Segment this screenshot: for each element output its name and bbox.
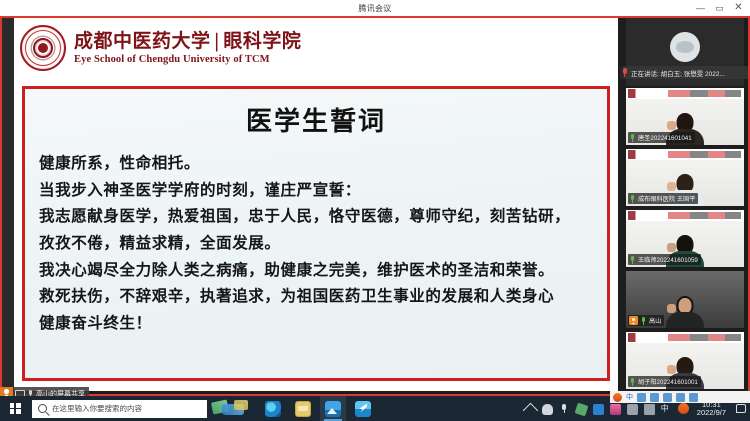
oath-line: 健康所系，性命相托。 [39, 150, 593, 177]
clock-date: 2022/9/7 [697, 409, 726, 417]
room-banner [626, 149, 744, 160]
participant-tile[interactable]: 高山 [626, 271, 744, 328]
participant-tile[interactable]: 胡子阳202241601001 [626, 332, 744, 389]
sogou-icon[interactable] [613, 393, 622, 402]
room-banner [626, 88, 744, 99]
window-controls: — ▭ ✕ [691, 0, 748, 16]
search-placeholder: 在这里输入你要搜索的内容 [52, 403, 142, 414]
participant-name: 高山 [649, 316, 661, 325]
logo-cn-main: 成都中医药大学 [74, 30, 211, 52]
speaking-now-label: 正在讲话: 胡白玉; 张懋雯 2022... [631, 68, 725, 78]
participant-name: 成布眼科医院 王国平 [638, 194, 695, 203]
gray-app-icon[interactable] [627, 404, 638, 415]
microphone-icon[interactable] [559, 403, 570, 414]
oath-line: 我志愿献身医学，热爱祖国，忠于人民，恪守医德，尊师守纪，刻苦钻研， [39, 203, 593, 230]
mic-icon [629, 255, 636, 264]
window-title: 腾讯会议 [358, 3, 391, 14]
participant-name-badge: 王临师202241601059 [628, 254, 701, 265]
room-banner [626, 332, 744, 343]
slide-header: 成都中医药大学|眼科学院 Eye School of Chengdu Unive… [14, 16, 618, 80]
logo-chinese-name: 成都中医药大学|眼科学院 [74, 31, 301, 53]
oath-line: 我决心竭尽全力除人类之病痛，助健康之完美，维护医术的圣洁和荣誉。 [39, 257, 593, 284]
ime-toolbar[interactable]: 中 [610, 391, 750, 403]
participant-name: 胡子阳202241601001 [638, 377, 698, 386]
university-seal-icon [20, 25, 66, 71]
sogou-icon[interactable] [678, 403, 689, 414]
participant-name-badge: 唐圣202241601041 [628, 132, 695, 143]
close-button[interactable]: ✕ [729, 0, 748, 16]
green-app-icon[interactable] [574, 403, 588, 417]
minimize-button[interactable]: — [691, 0, 710, 16]
oath-line: 救死扶伤，不辞艰辛，执著追求，为祖国医药卫生事业的发展和人类身心 [39, 283, 593, 310]
taskbar-app-edge[interactable] [260, 396, 286, 421]
taskbar-app-store[interactable] [290, 396, 316, 421]
oath-line: 当我步入神圣医学学府的时刻，谨庄严宣誓： [39, 177, 593, 204]
ime-settings-icon[interactable] [689, 393, 698, 402]
ime-tool-icon[interactable] [637, 393, 646, 402]
mic-icon [621, 68, 628, 77]
participant-tile[interactable]: 成布眼科医院 王国平 [626, 149, 744, 206]
taskbar-search-input[interactable]: 在这里输入你要搜索的内容 [32, 400, 207, 418]
store-icon [295, 401, 311, 417]
ime-emoji-icon[interactable] [676, 393, 685, 402]
photos-icon [325, 401, 341, 417]
mic-icon [640, 316, 647, 325]
speaking-now-banner: 正在讲话: 胡白玉; 张懋雯 2022... [618, 66, 750, 79]
maximize-button[interactable]: ▭ [710, 0, 729, 16]
edge-icon [265, 401, 281, 417]
taskbar-app-bird[interactable] [350, 396, 376, 421]
oath-line: 孜孜不倦，精益求精，全面发展。 [39, 230, 593, 257]
oath-title: 医学生誓词 [39, 101, 593, 138]
ime-voice-icon[interactable] [650, 393, 659, 402]
host-icon [629, 316, 638, 325]
mic-icon [629, 133, 636, 142]
blue-app-icon[interactable] [593, 404, 604, 415]
bird-icon [355, 401, 371, 417]
participant-name: 王临师202241601059 [638, 255, 698, 264]
logo-english-name: Eye School of Chengdu University of TCM [74, 54, 301, 65]
windows-logo-icon [10, 403, 21, 414]
start-button[interactable] [0, 396, 30, 421]
network-icon[interactable] [644, 404, 655, 415]
logo-cn-sub: 眼科学院 [223, 30, 301, 52]
ime-mode-label[interactable]: 中 [626, 392, 633, 402]
ime-indicator[interactable]: 中 [661, 403, 672, 414]
logo-cn-separator: | [214, 30, 221, 52]
participant-name: 唐圣202241601041 [638, 133, 692, 142]
stage-left-gutter [0, 16, 14, 391]
person-silhouette [665, 296, 705, 328]
taskbar-app-list[interactable] [260, 396, 376, 421]
participant-name-badge: 成布眼科医院 王国平 [628, 193, 698, 204]
taskbar-widget[interactable] [210, 398, 252, 419]
shared-screen-stage: 成都中医药大学|眼科学院 Eye School of Chengdu Unive… [0, 16, 618, 391]
presentation-slide: 成都中医药大学|眼科学院 Eye School of Chengdu Unive… [14, 16, 618, 391]
notification-center-icon[interactable] [736, 404, 746, 413]
room-banner [626, 210, 744, 221]
show-hidden-icons-icon[interactable] [523, 402, 539, 418]
participant-name-badge: 胡子阳202241601001 [628, 376, 701, 387]
pink-app-icon[interactable] [610, 404, 621, 415]
mic-icon [629, 194, 636, 203]
participant-tile[interactable]: 王临师202241601059 [626, 210, 744, 267]
search-icon [38, 404, 47, 413]
mic-icon [629, 377, 636, 386]
avatar [670, 32, 700, 62]
oath-panel: 医学生誓词 健康所系，性命相托。 当我步入神圣医学学府的时刻，谨庄严宣誓： 我志… [22, 86, 610, 381]
participant-name-badge: 高山 [628, 315, 664, 326]
logo-text-block: 成都中医药大学|眼科学院 Eye School of Chengdu Unive… [74, 31, 301, 66]
oath-line: 健康奋斗终生！ [39, 310, 593, 337]
participant-rail[interactable]: 正在讲话: 胡白玉; 张懋雯 2022... 唐圣202241601041 [618, 16, 750, 391]
taskbar-app-photos[interactable] [320, 396, 346, 421]
window-title-bar: 腾讯会议 — ▭ ✕ [0, 0, 750, 16]
ime-keyboard-icon[interactable] [663, 393, 672, 402]
cloud-icon[interactable] [542, 404, 553, 415]
participant-tile[interactable]: 唐圣202241601041 [626, 88, 744, 145]
